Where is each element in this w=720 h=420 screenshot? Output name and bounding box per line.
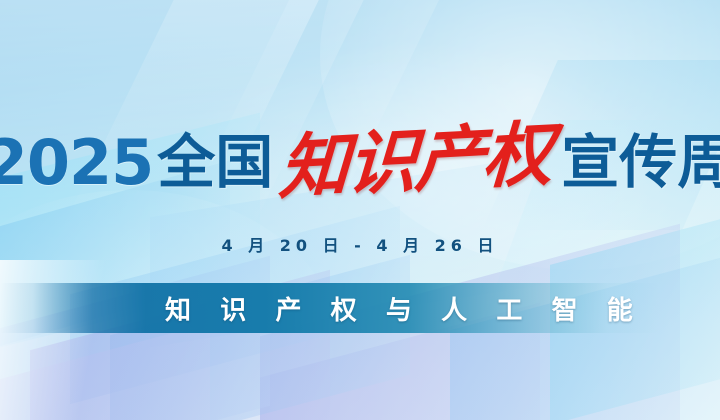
title-year: 2025 — [0, 132, 153, 194]
title-suffix: 宣传周 — [561, 134, 720, 192]
subtitle-text: 知 识 产 权 与 人 工 智 能 — [165, 290, 644, 327]
title-highlight: 知识产权 — [278, 121, 553, 206]
main-title: 2025 全国 知识产权 宣传周 — [0, 118, 720, 208]
subtitle-bar: 知 识 产 权 与 人 工 智 能 — [0, 283, 660, 333]
background-decoration — [0, 0, 720, 420]
date-range: 4 月 20 日 - 4 月 26 日 — [0, 232, 720, 256]
ip-week-banner: 2025 全国 知识产权 宣传周 4 月 20 日 - 4 月 26 日 知 识… — [0, 0, 720, 420]
title-nationwide: 全国 — [157, 134, 273, 192]
